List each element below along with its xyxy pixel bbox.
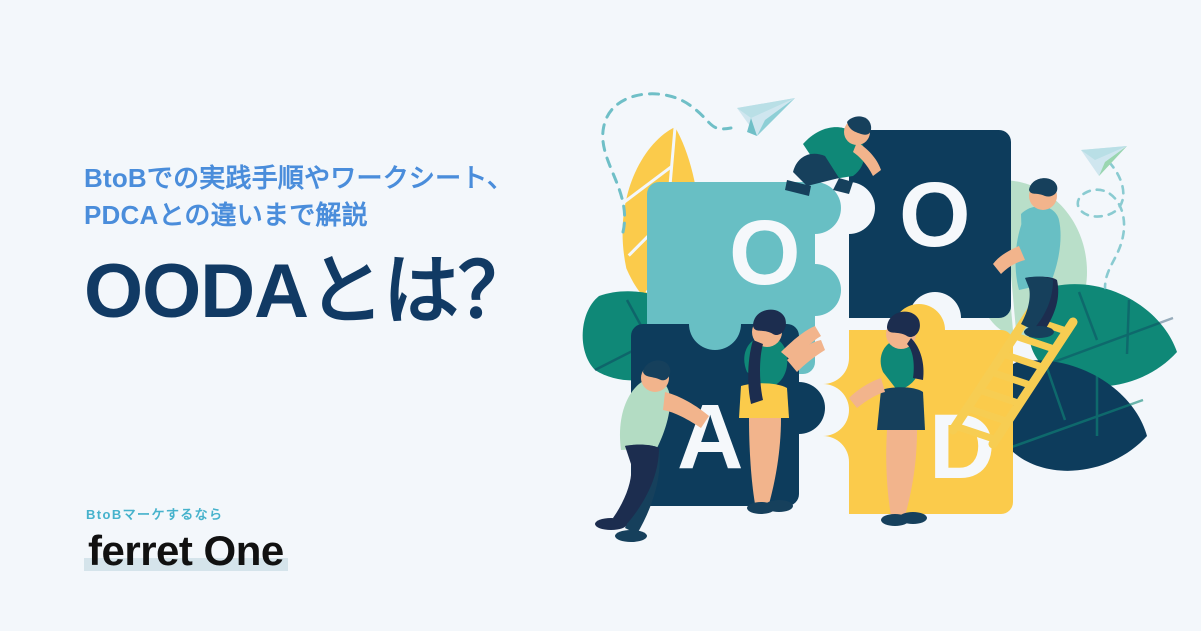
logo-tagline: BtoBマーケするなら (86, 504, 288, 523)
paper-plane-small (1081, 146, 1127, 176)
logo-wordmark: ferret One (88, 527, 284, 574)
puzzle-letter-o1: O (729, 202, 801, 304)
logo-wordmark-wrap: ferret One (84, 529, 288, 573)
headline-text: OODAとは？ (84, 252, 624, 332)
paper-plane-large (737, 98, 795, 136)
brand-logo[interactable]: BtoBマーケするなら ferret One (84, 504, 288, 573)
ooda-illustration: O O A D (581, 0, 1201, 631)
banner: BtoBでの実践手順やワークシート、 PDCAとの違いまで解説 OODAとは？ … (0, 0, 1201, 631)
copy-block: BtoBでの実践手順やワークシート、 PDCAとの違いまで解説 OODAとは？ (84, 160, 624, 332)
puzzle-letter-o2: O (899, 164, 971, 266)
subhead-text: BtoBでの実践手順やワークシート、 PDCAとの違いまで解説 (84, 160, 624, 234)
